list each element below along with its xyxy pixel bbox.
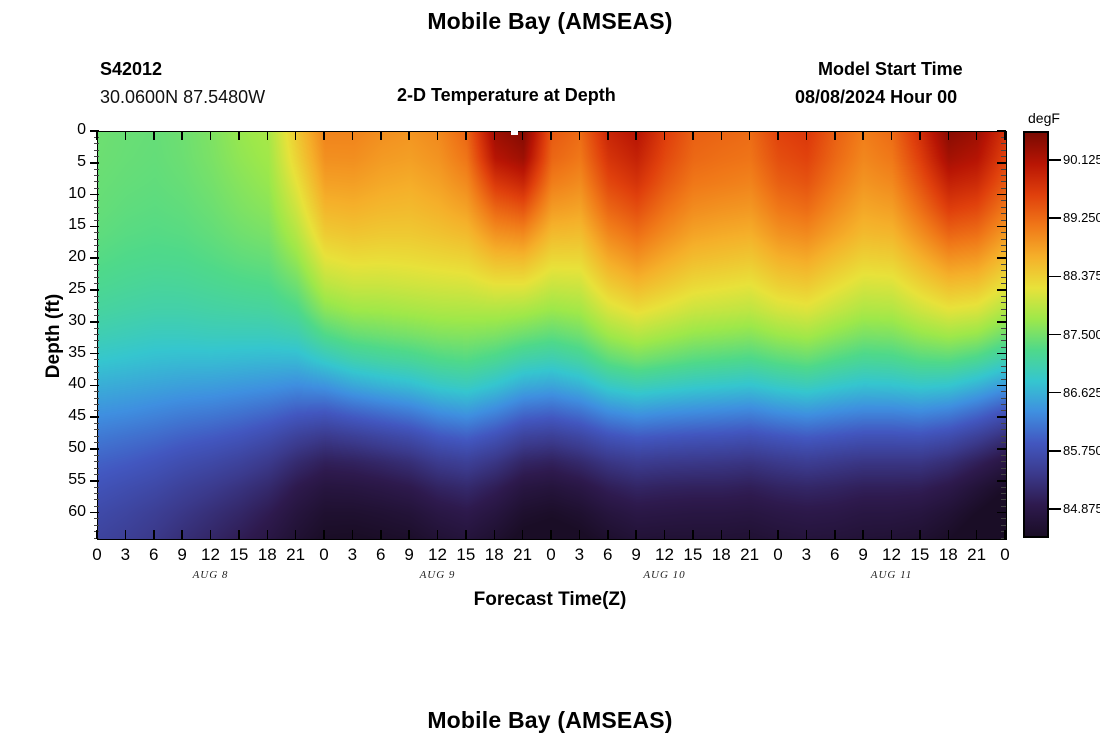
x-axis-tick <box>437 131 439 140</box>
y-axis-minor-tick <box>1001 175 1006 176</box>
x-axis-tick <box>323 530 325 539</box>
y-axis-tick-label: 10 <box>40 185 86 203</box>
x-axis-tick <box>550 131 552 140</box>
y-axis-tick <box>90 353 99 355</box>
x-axis-tick <box>579 530 581 539</box>
x-axis-day-label: AUG 9 <box>378 569 498 581</box>
temperature-heatmap <box>98 132 1006 539</box>
y-axis-minor-tick <box>1001 372 1006 373</box>
y-axis-minor-tick <box>94 251 99 252</box>
x-axis-tick <box>891 530 893 539</box>
x-axis-tick <box>494 131 496 140</box>
y-axis-tick <box>997 257 1006 259</box>
x-axis-tick <box>607 530 609 539</box>
y-axis-minor-tick <box>94 404 99 405</box>
y-axis-tick <box>90 194 99 196</box>
y-axis-tick <box>90 480 99 482</box>
x-axis-tick <box>692 530 694 539</box>
y-axis-minor-tick <box>1001 499 1006 500</box>
y-axis-minor-tick <box>94 410 99 411</box>
colorbar-tick <box>1049 392 1061 394</box>
y-axis-minor-tick <box>1001 429 1006 430</box>
x-axis-tick <box>181 131 183 140</box>
colorbar-tick-label: 85.750 <box>1063 443 1100 458</box>
y-axis-minor-tick <box>94 175 99 176</box>
heatmap-plot-area <box>97 131 1007 540</box>
x-axis-tick <box>976 131 978 140</box>
y-axis-tick <box>90 416 99 418</box>
x-axis-tick <box>125 530 127 539</box>
x-axis-tick <box>408 530 410 539</box>
colorbar-tick-label: 84.875 <box>1063 501 1100 516</box>
x-axis-tick <box>948 530 950 539</box>
y-axis-minor-tick <box>94 213 99 214</box>
colorbar-tick-label: 89.250 <box>1063 210 1100 225</box>
y-axis-minor-tick <box>94 455 99 456</box>
x-axis-tick <box>635 131 637 140</box>
y-axis-tick <box>997 448 1006 450</box>
y-axis-tick <box>90 226 99 228</box>
y-axis-tick-label: 25 <box>40 280 86 298</box>
y-axis-minor-tick <box>1001 277 1006 278</box>
y-axis-tick <box>997 512 1006 514</box>
y-axis-minor-tick <box>94 277 99 278</box>
y-axis-minor-tick <box>94 340 99 341</box>
x-axis-day-label: AUG 8 <box>151 569 271 581</box>
y-axis-minor-tick <box>1001 340 1006 341</box>
y-axis-minor-tick <box>1001 474 1006 475</box>
y-axis-minor-tick <box>1001 493 1006 494</box>
station-id: S42012 <box>100 59 162 80</box>
y-axis-minor-tick <box>94 296 99 297</box>
y-axis-minor-tick <box>94 309 99 310</box>
y-axis-minor-tick <box>1001 525 1006 526</box>
y-axis-minor-tick <box>94 506 99 507</box>
y-axis-minor-tick <box>94 493 99 494</box>
x-axis-tick <box>976 530 978 539</box>
x-axis-tick <box>664 131 666 140</box>
y-axis-minor-tick <box>94 283 99 284</box>
y-axis-tick <box>997 226 1006 228</box>
y-axis-minor-tick <box>1001 455 1006 456</box>
y-axis-minor-tick <box>1001 188 1006 189</box>
x-axis-tick <box>352 131 354 140</box>
y-axis-minor-tick <box>94 474 99 475</box>
x-axis-tick <box>664 530 666 539</box>
x-axis-day-label: AUG 10 <box>605 569 725 581</box>
y-axis-minor-tick <box>94 270 99 271</box>
y-axis-tick <box>997 480 1006 482</box>
y-axis-minor-tick <box>1001 423 1006 424</box>
y-axis-tick <box>90 289 99 291</box>
y-axis-minor-tick <box>1001 232 1006 233</box>
y-axis-minor-tick <box>94 468 99 469</box>
x-axis-tick <box>749 530 751 539</box>
y-axis-minor-tick <box>1001 296 1006 297</box>
x-axis-tick <box>267 131 269 140</box>
y-axis-tick-label: 0 <box>40 121 86 139</box>
y-axis-minor-tick <box>1001 398 1006 399</box>
x-axis-tick <box>494 530 496 539</box>
model-start-time-label: Model Start Time <box>818 59 963 80</box>
y-axis-tick <box>90 257 99 259</box>
x-axis-tick <box>210 131 212 140</box>
y-axis-minor-tick <box>94 302 99 303</box>
y-axis-tick <box>997 194 1006 196</box>
y-axis-minor-tick <box>94 188 99 189</box>
y-axis-minor-tick <box>94 315 99 316</box>
y-axis-minor-tick <box>94 347 99 348</box>
y-axis-minor-tick <box>1001 309 1006 310</box>
x-axis-tick <box>522 530 524 539</box>
x-axis-tick <box>465 530 467 539</box>
y-axis-tick <box>997 321 1006 323</box>
x-axis-tick-label: 0 <box>985 545 1025 565</box>
x-axis-tick <box>692 131 694 140</box>
x-axis-tick <box>1004 131 1006 140</box>
y-axis-minor-tick <box>1001 461 1006 462</box>
x-axis-tick <box>834 530 836 539</box>
y-axis-minor-tick <box>1001 366 1006 367</box>
colorbar-gradient <box>1025 133 1047 536</box>
x-axis-tick <box>919 131 921 140</box>
y-axis-tick <box>997 416 1006 418</box>
y-axis-minor-tick <box>1001 347 1006 348</box>
x-axis-tick <box>579 131 581 140</box>
y-axis-minor-tick <box>1001 487 1006 488</box>
colorbar-tick-label: 90.125 <box>1063 152 1100 167</box>
y-axis-minor-tick <box>1001 156 1006 157</box>
y-axis-minor-tick <box>1001 264 1006 265</box>
x-axis-tick <box>125 131 127 140</box>
y-axis-tick-label: 50 <box>40 439 86 457</box>
y-axis-tick <box>997 162 1006 164</box>
y-axis-tick <box>90 385 99 387</box>
y-axis-minor-tick <box>94 181 99 182</box>
y-axis-minor-tick <box>94 156 99 157</box>
x-axis-tick <box>238 131 240 140</box>
y-axis-minor-tick <box>1001 442 1006 443</box>
colorbar <box>1023 131 1049 538</box>
x-axis-tick <box>1004 530 1006 539</box>
x-axis-day-label: AUG 11 <box>832 569 952 581</box>
colorbar-tick <box>1049 217 1061 219</box>
x-axis-tick <box>721 530 723 539</box>
x-axis-tick <box>153 530 155 539</box>
x-axis-tick <box>607 131 609 140</box>
x-axis-tick <box>919 530 921 539</box>
y-axis-minor-tick <box>1001 270 1006 271</box>
y-axis-tick <box>90 321 99 323</box>
y-axis-minor-tick <box>94 372 99 373</box>
x-axis-tick <box>635 530 637 539</box>
x-axis-title: Forecast Time(Z) <box>0 589 1100 611</box>
model-start-time-value: 08/08/2024 Hour 00 <box>795 87 957 108</box>
x-axis-tick <box>522 131 524 140</box>
x-axis-tick <box>437 530 439 539</box>
y-axis-minor-tick <box>94 334 99 335</box>
missing-data-marker <box>511 131 518 135</box>
y-axis-minor-tick <box>1001 213 1006 214</box>
y-axis-minor-tick <box>1001 143 1006 144</box>
y-axis-tick-label: 45 <box>40 407 86 425</box>
x-axis-tick <box>749 131 751 140</box>
x-axis-tick <box>721 131 723 140</box>
colorbar-tick <box>1049 276 1061 278</box>
y-axis-minor-tick <box>94 232 99 233</box>
y-axis-minor-tick <box>94 207 99 208</box>
y-axis-minor-tick <box>94 328 99 329</box>
x-axis-tick <box>238 530 240 539</box>
chart-subtitle: 2-D Temperature at Depth <box>397 85 616 106</box>
y-axis-minor-tick <box>94 518 99 519</box>
y-axis-minor-tick <box>1001 220 1006 221</box>
x-axis-tick <box>181 530 183 539</box>
x-axis-tick <box>806 530 808 539</box>
y-axis-minor-tick <box>94 398 99 399</box>
y-axis-tick-label: 40 <box>40 375 86 393</box>
colorbar-units-label: degF <box>1028 110 1060 126</box>
y-axis-minor-tick <box>1001 468 1006 469</box>
y-axis-tick <box>997 385 1006 387</box>
y-axis-minor-tick <box>94 239 99 240</box>
x-axis-tick <box>153 131 155 140</box>
y-axis-minor-tick <box>1001 436 1006 437</box>
x-axis-tick <box>948 131 950 140</box>
colorbar-tick <box>1049 508 1061 510</box>
y-axis-minor-tick <box>94 442 99 443</box>
y-axis-minor-tick <box>1001 251 1006 252</box>
y-axis-minor-tick <box>1001 169 1006 170</box>
y-axis-minor-tick <box>1001 334 1006 335</box>
x-axis-tick <box>295 131 297 140</box>
x-axis-tick <box>210 530 212 539</box>
y-axis-minor-tick <box>1001 518 1006 519</box>
y-axis-minor-tick <box>1001 379 1006 380</box>
y-axis-minor-tick <box>1001 315 1006 316</box>
x-axis-tick <box>891 131 893 140</box>
y-axis-minor-tick <box>94 436 99 437</box>
x-axis-tick <box>380 131 382 140</box>
y-axis-minor-tick <box>94 200 99 201</box>
y-axis-minor-tick <box>1001 150 1006 151</box>
colorbar-tick <box>1049 159 1061 161</box>
colorbar-tick-label: 88.375 <box>1063 268 1100 283</box>
y-axis-tick <box>90 512 99 514</box>
y-axis-minor-tick <box>94 423 99 424</box>
x-axis-tick <box>834 131 836 140</box>
x-axis-tick <box>465 131 467 140</box>
colorbar-tick-label: 86.625 <box>1063 385 1100 400</box>
y-axis-minor-tick <box>1001 207 1006 208</box>
y-axis-tick <box>90 162 99 164</box>
y-axis-minor-tick <box>94 143 99 144</box>
y-axis-minor-tick <box>94 359 99 360</box>
y-axis-minor-tick <box>94 245 99 246</box>
y-axis-minor-tick <box>1001 239 1006 240</box>
x-axis-tick <box>96 131 98 140</box>
colorbar-tick-label: 87.500 <box>1063 327 1100 342</box>
y-axis-minor-tick <box>1001 410 1006 411</box>
y-axis-tick-label: 55 <box>40 471 86 489</box>
y-axis-minor-tick <box>94 525 99 526</box>
footer-title: Mobile Bay (AMSEAS) <box>0 707 1100 734</box>
y-axis-minor-tick <box>1001 404 1006 405</box>
x-axis-tick <box>550 530 552 539</box>
y-axis-minor-tick <box>1001 181 1006 182</box>
x-axis-tick <box>777 530 779 539</box>
x-axis-tick <box>352 530 354 539</box>
y-axis-minor-tick <box>1001 506 1006 507</box>
y-axis-tick-label: 60 <box>40 503 86 521</box>
x-axis-tick <box>806 131 808 140</box>
x-axis-tick <box>862 131 864 140</box>
y-axis-tick-label: 20 <box>40 248 86 266</box>
y-axis-minor-tick <box>94 366 99 367</box>
y-axis-minor-tick <box>94 220 99 221</box>
colorbar-tick <box>1049 450 1061 452</box>
y-axis-minor-tick <box>94 487 99 488</box>
x-axis-tick <box>408 131 410 140</box>
y-axis-minor-tick <box>1001 328 1006 329</box>
x-axis-tick <box>380 530 382 539</box>
y-axis-tick <box>997 289 1006 291</box>
y-axis-tick-label: 30 <box>40 312 86 330</box>
y-axis-minor-tick <box>1001 391 1006 392</box>
y-axis-tick-label: 35 <box>40 344 86 362</box>
x-axis-tick <box>862 530 864 539</box>
y-axis-tick <box>997 353 1006 355</box>
y-axis-minor-tick <box>94 391 99 392</box>
x-axis-tick <box>267 530 269 539</box>
colorbar-tick <box>1049 334 1061 336</box>
y-axis-tick-label: 5 <box>40 153 86 171</box>
y-axis-minor-tick <box>1001 200 1006 201</box>
y-axis-minor-tick <box>1001 245 1006 246</box>
y-axis-minor-tick <box>94 150 99 151</box>
station-coordinates: 30.0600N 87.5480W <box>100 87 265 108</box>
y-axis-minor-tick <box>94 461 99 462</box>
page-title: Mobile Bay (AMSEAS) <box>0 8 1100 35</box>
y-axis-minor-tick <box>94 169 99 170</box>
y-axis-minor-tick <box>94 379 99 380</box>
y-axis-minor-tick <box>1001 359 1006 360</box>
y-axis-minor-tick <box>94 264 99 265</box>
y-axis-minor-tick <box>94 499 99 500</box>
y-axis-minor-tick <box>1001 302 1006 303</box>
x-axis-tick <box>96 530 98 539</box>
x-axis-tick <box>777 131 779 140</box>
y-axis-minor-tick <box>1001 283 1006 284</box>
y-axis-tick-label: 15 <box>40 216 86 234</box>
y-axis-minor-tick <box>94 429 99 430</box>
y-axis-tick <box>90 448 99 450</box>
x-axis-tick <box>323 131 325 140</box>
x-axis-tick <box>295 530 297 539</box>
